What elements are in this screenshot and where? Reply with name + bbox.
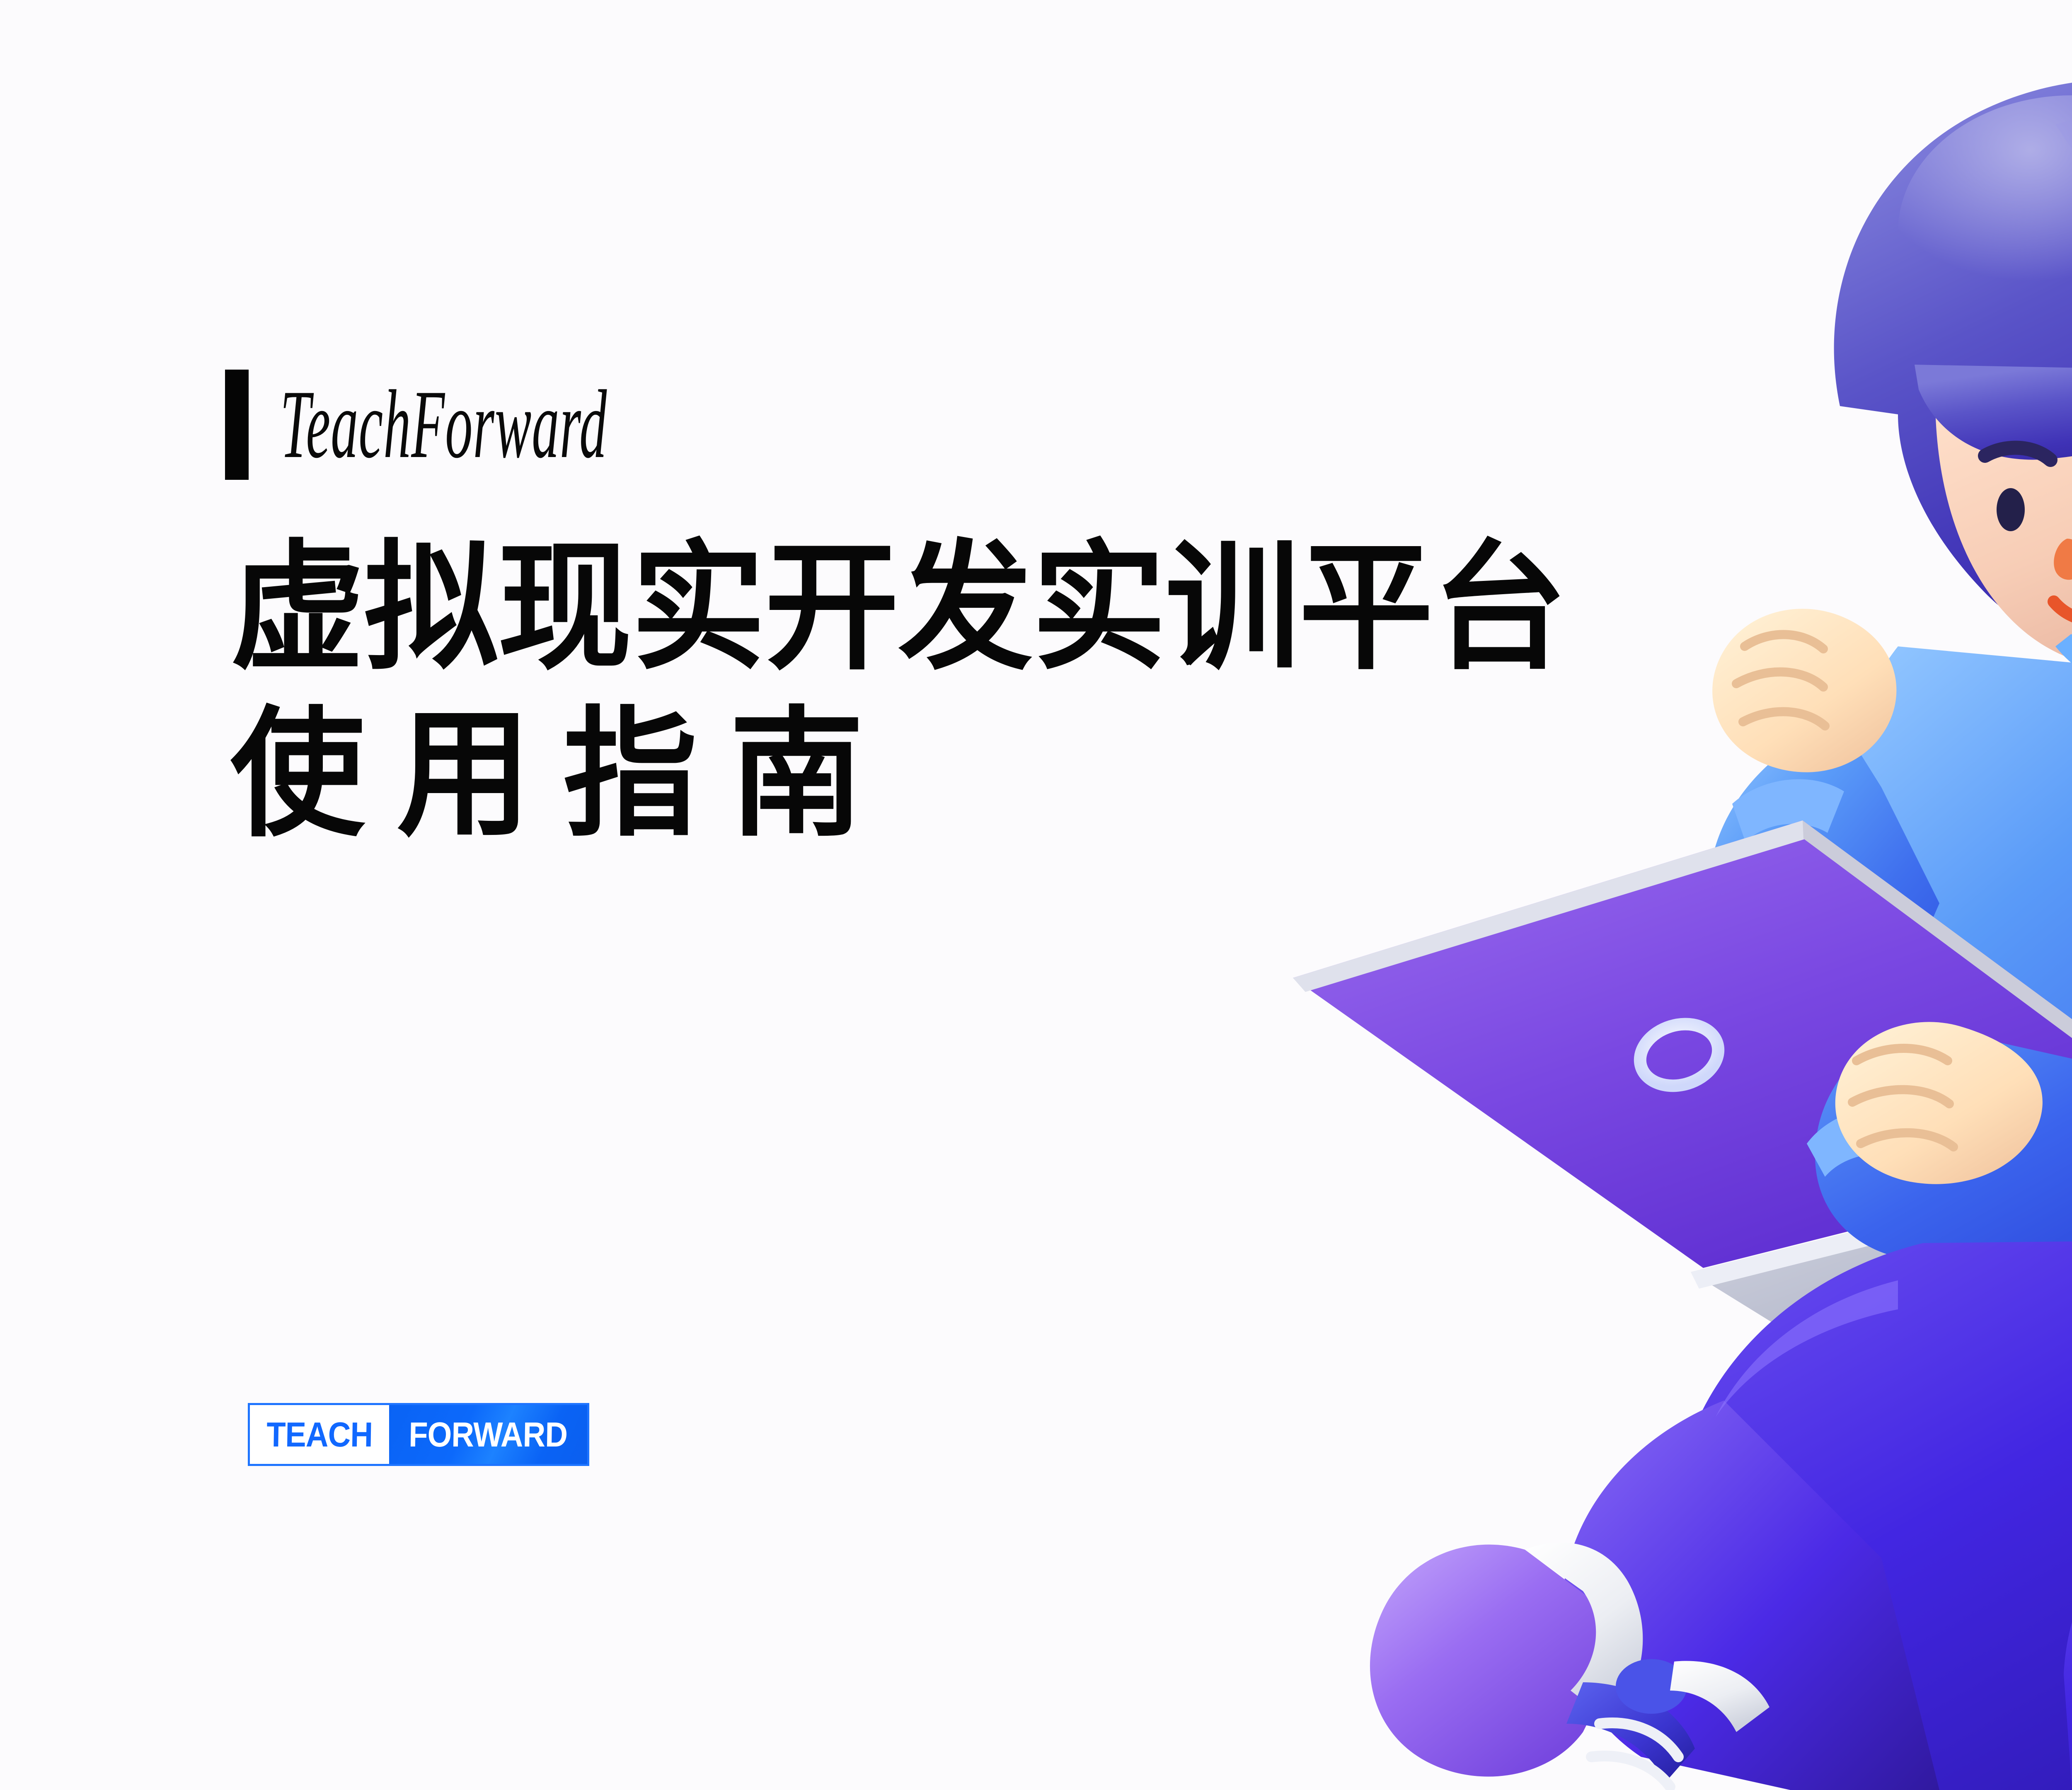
brand-accent-bar [225, 370, 249, 480]
teachforward-logo[interactable]: TEACH FORWARD [248, 1403, 589, 1466]
logo-teach-panel: TEACH [250, 1405, 389, 1464]
logo-teach-text: TEACH [266, 1417, 373, 1452]
eye-left [1997, 488, 2025, 531]
brand-name: TeachForward [280, 376, 607, 474]
logo-forward-text: FORWARD [409, 1417, 568, 1452]
hero-illustration [1235, 0, 2072, 1790]
brand-row: TeachForward [225, 365, 864, 485]
logo-forward-panel: FORWARD [389, 1405, 587, 1464]
poster-canvas: TeachForward 虚拟现实开发实训平台 使用指南 TEACH FORWA… [0, 0, 2072, 1790]
